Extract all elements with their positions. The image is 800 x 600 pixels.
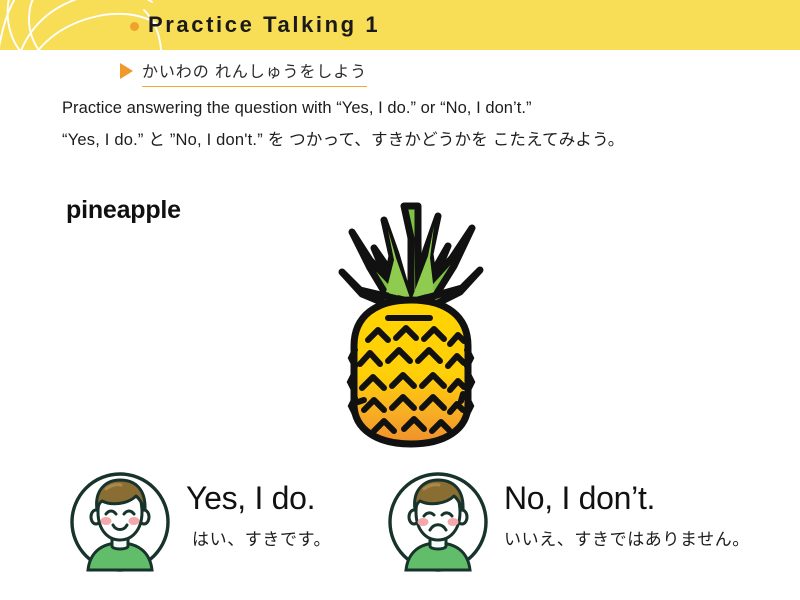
answer-row: Yes, I do. はい、すきです。 — [0, 468, 800, 590]
sad-boy-avatar-icon — [386, 470, 490, 574]
subtitle-row: かいわの れんしゅうをしよう — [120, 58, 367, 87]
answer-english-yes: Yes, I do. — [186, 482, 331, 514]
slide-canvas: Practice Talking 1 かいわの れんしゅうをしよう Practi… — [0, 0, 800, 600]
answer-english-no: No, I don’t. — [504, 482, 750, 514]
banner-title-group: Practice Talking 1 — [130, 0, 380, 50]
happy-boy-avatar-icon — [68, 470, 172, 574]
answer-japanese-yes: はい、すきです。 — [186, 525, 331, 550]
answer-option-yes[interactable]: Yes, I do. はい、すきです。 — [68, 468, 331, 574]
subtitle-text: かいわの れんしゅうをしよう — [142, 58, 367, 87]
instruction-block: Practice answering the question with “Ye… — [62, 100, 762, 148]
answer-text-group-yes: Yes, I do. はい、すきです。 — [186, 468, 331, 550]
title-bullet-icon — [130, 22, 139, 31]
instruction-english: Practice answering the question with “Ye… — [62, 100, 762, 117]
arrow-right-icon — [120, 63, 133, 79]
answer-option-no[interactable]: No, I don’t. いいえ、すきではありません。 — [386, 468, 750, 574]
page-title: Practice Talking 1 — [148, 12, 380, 38]
vocabulary-word: pineapple — [66, 196, 181, 225]
pineapple-icon — [326, 198, 496, 453]
answer-text-group-no: No, I don’t. いいえ、すきではありません。 — [504, 468, 750, 550]
header-banner: Practice Talking 1 — [0, 0, 800, 50]
instruction-japanese: “Yes, I do.” と ”No, I don't.” を つかって、すきか… — [62, 132, 762, 149]
answer-japanese-no: いいえ、すきではありません。 — [504, 525, 750, 550]
